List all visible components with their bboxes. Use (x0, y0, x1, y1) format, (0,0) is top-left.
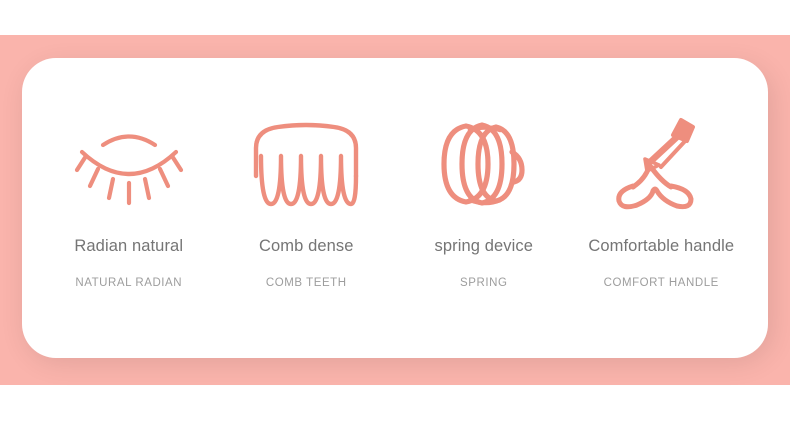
feature-primary-label: Comfortable handle (588, 236, 734, 256)
feature-list: Radian natural NATURAL RADIAN Comb dense… (22, 58, 768, 358)
feature-secondary-label: SPRING (460, 276, 507, 290)
closed-eye-lashes-icon (70, 116, 188, 212)
feature-item-spring-device: spring device SPRING (395, 58, 573, 290)
feature-primary-label: spring device (434, 236, 533, 256)
feature-item-comb-dense: Comb dense COMB TEETH (218, 58, 396, 290)
feature-secondary-label: COMB TEETH (266, 276, 347, 290)
comb-icon (247, 116, 365, 212)
feature-item-radian-natural: Radian natural NATURAL RADIAN (40, 58, 218, 290)
feature-card: Radian natural NATURAL RADIAN Comb dense… (22, 58, 768, 358)
feature-primary-label: Radian natural (74, 236, 183, 256)
feature-item-comfortable-handle: Comfortable handle COMFORT HANDLE (573, 58, 751, 290)
eyelash-curler-icon (602, 116, 720, 212)
spring-coil-icon (425, 116, 543, 212)
feature-secondary-label: NATURAL RADIAN (75, 276, 182, 290)
feature-secondary-label: COMFORT HANDLE (604, 276, 719, 290)
feature-primary-label: Comb dense (259, 236, 354, 256)
feature-banner: Radian natural NATURAL RADIAN Comb dense… (0, 0, 790, 425)
